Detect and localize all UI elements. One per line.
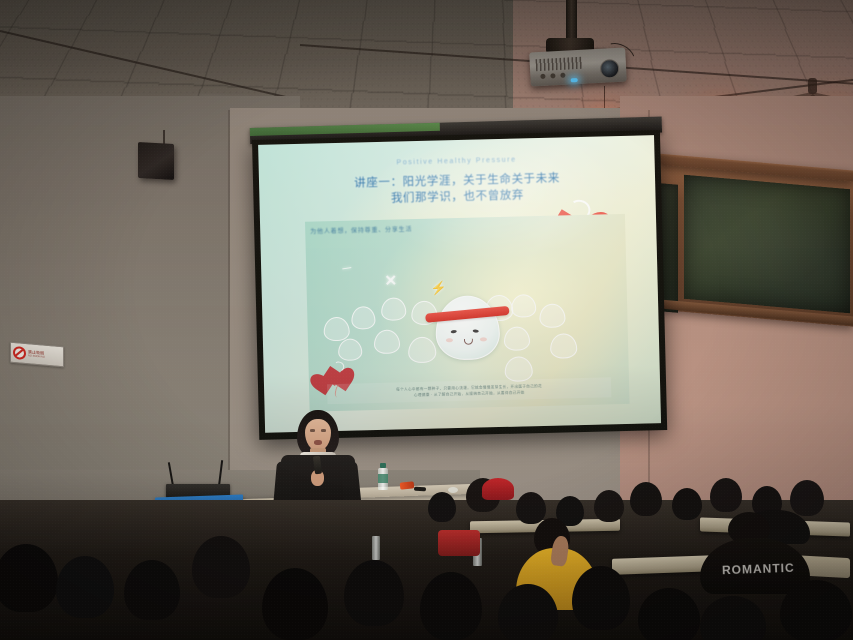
lecture-hall-photo: 禁止吸烟 NO SMOKING Positive Healthy Pressur…	[0, 0, 853, 640]
sparkle-x-icon: ✕	[384, 272, 397, 290]
small-cup	[448, 487, 458, 493]
presenter-eye-right	[321, 429, 326, 432]
sparkle-dash-icon: —	[341, 262, 352, 273]
audience-head	[192, 536, 250, 598]
projector-knob	[560, 73, 565, 78]
slide-content: Positive Healthy Pressure 讲座一：阳光学涯，关于生命关…	[258, 135, 661, 433]
mascot-mouth	[464, 339, 473, 345]
mini-blob	[504, 326, 531, 351]
audience-head	[420, 572, 482, 640]
audience-head	[124, 560, 180, 620]
slide-subtitle-english: Positive Healthy Pressure	[259, 153, 655, 170]
audience-head	[790, 480, 824, 516]
audience-head	[630, 482, 662, 516]
audience-head	[780, 580, 852, 640]
projector-mount-pole	[566, 0, 577, 42]
audience-head	[516, 492, 546, 524]
wall-speaker	[138, 142, 174, 180]
mini-blob	[408, 337, 437, 364]
audience-head	[262, 568, 328, 640]
presenter-eye-left	[310, 429, 315, 432]
slide-image-panel: 为他人着想，保持尊重、分享生活 — ✕ ⚡	[305, 214, 630, 412]
water-bottle-label	[378, 474, 388, 483]
dark-pen	[414, 487, 426, 492]
audience-head	[710, 478, 742, 512]
mini-blob	[351, 306, 376, 330]
no-smoking-sublabel: NO SMOKING	[28, 355, 45, 359]
projector-knob	[540, 74, 545, 79]
jacket-text-label: ROMANTIC	[722, 561, 795, 578]
projection-screen: Positive Healthy Pressure 讲座一：阳光学涯，关于生命关…	[252, 130, 667, 440]
wall-corner-seam	[228, 110, 230, 510]
mini-blob	[374, 329, 401, 354]
mascot-eye-left	[451, 330, 457, 334]
mascot-eye-right	[473, 329, 479, 333]
audience-head	[56, 556, 114, 618]
projector-knob	[550, 73, 555, 78]
mini-blob	[338, 338, 363, 361]
mini-blob	[550, 333, 578, 359]
mini-blob	[381, 297, 407, 321]
audience-head	[344, 560, 404, 626]
audience-head	[672, 488, 702, 520]
mascot-cheek-right	[480, 337, 487, 341]
mini-blob	[511, 294, 537, 318]
mascot-cheek-left	[446, 338, 453, 342]
no-smoking-icon	[13, 346, 26, 360]
audience-head	[572, 566, 630, 630]
sparkle-bolt-icon: ⚡	[430, 280, 447, 296]
projector-vent	[536, 57, 583, 71]
chalkboard-dust	[684, 175, 850, 314]
audience-head	[428, 492, 456, 522]
mini-blob	[323, 317, 350, 342]
projector-status-led	[571, 78, 578, 82]
orange-marker-object	[400, 481, 415, 489]
audience-head	[594, 490, 624, 522]
audience-head-with-cap	[482, 478, 514, 500]
red-bag	[438, 530, 480, 556]
audience-water-bottle	[372, 536, 380, 560]
slide-panel-caption: 为他人着想，保持尊重、分享生活	[310, 224, 412, 235]
slide-footer-text-bar: 每个人心中都有一颗种子，只要用心浇灌，它就会慢慢发芽生长，开出属于自己的花 心理…	[327, 377, 611, 404]
chalkboard-surface	[684, 175, 850, 314]
mini-blob	[504, 356, 533, 382]
presenter-mouth	[314, 440, 322, 445]
mini-blob	[539, 303, 566, 328]
